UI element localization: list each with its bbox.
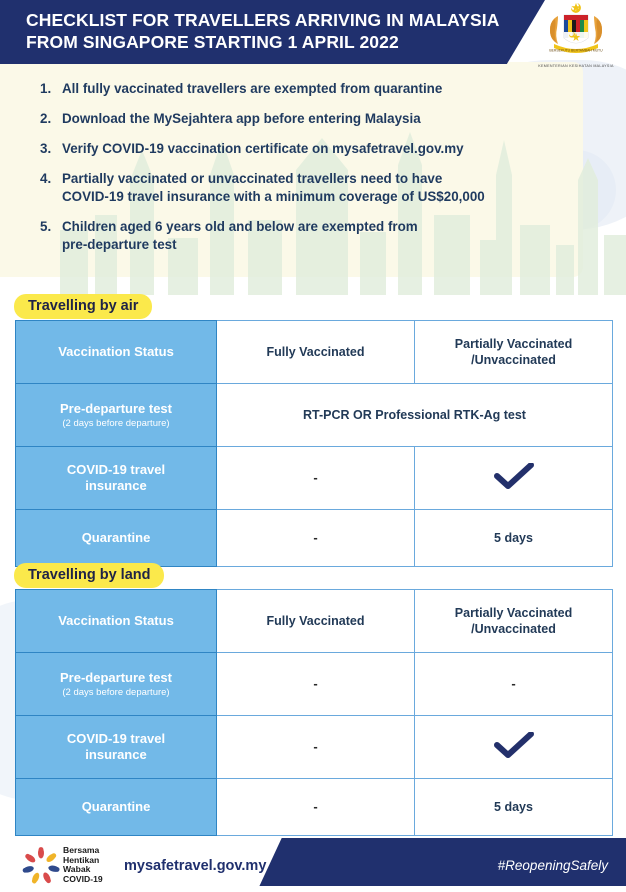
- list-item-text: Partially vaccinated or unvaccinated tra…: [62, 170, 585, 206]
- table-travelling-by-land: Vaccination Status Fully Vaccinated Part…: [15, 589, 613, 836]
- list-item-number: 5.: [40, 218, 62, 254]
- footer-logo-line-4: COVID-19: [63, 875, 103, 885]
- cell-text-line-2: /Unvaccinated: [415, 621, 612, 637]
- row-label-text: Vaccination Status: [58, 613, 174, 628]
- row-label-text: Pre-departure test: [60, 401, 172, 416]
- emblem-container: BERSEKUTU BERTAMBAH MUTU KEMENTERIAN KES…: [528, 2, 624, 70]
- cell-insurance-partial: [415, 447, 613, 510]
- footer-bottom-strip: [0, 886, 626, 892]
- row-label-text: COVID-19 travel: [67, 462, 165, 477]
- table-travelling-by-air: Vaccination Status Fully Vaccinated Part…: [15, 320, 613, 567]
- footer: Bersama Hentikan Wabak COVID-19 mysafetr…: [0, 838, 626, 892]
- cell-quarantine-fully: -: [217, 510, 415, 567]
- cell-text: -: [313, 799, 317, 814]
- cell-text: 5 days: [494, 800, 533, 814]
- emblem-caption: KEMENTERIAN KESIHATAN MALAYSIA: [519, 64, 626, 69]
- row-label-quarantine: Quarantine: [16, 510, 217, 567]
- row-label-pre-departure-test: Pre-departure test (2 days before depart…: [16, 653, 217, 716]
- table-row: Vaccination Status Fully Vaccinated Part…: [16, 590, 613, 653]
- infographic-page: CHECKLIST FOR TRAVELLERS ARRIVING IN MAL…: [0, 0, 626, 892]
- cell-text: -: [313, 739, 317, 754]
- cell-text: -: [313, 470, 317, 485]
- list-item: 1. All fully vaccinated travellers are e…: [40, 80, 585, 98]
- list-item: 5. Children aged 6 years old and below a…: [40, 218, 585, 254]
- list-item: 4. Partially vaccinated or unvaccinated …: [40, 170, 585, 206]
- list-item-line-1: Partially vaccinated or unvaccinated tra…: [62, 171, 442, 186]
- row-label-covid-travel-insurance: COVID-19 travel insurance: [16, 716, 217, 779]
- row-label-text: Quarantine: [82, 799, 151, 814]
- cell-text: RT-PCR OR Professional RTK-Ag test: [303, 408, 526, 422]
- cell-pre-departure-test-merged: RT-PCR OR Professional RTK-Ag test: [217, 384, 613, 447]
- row-label-text: Quarantine: [82, 530, 151, 545]
- cell-fully-vaccinated-header: Fully Vaccinated: [217, 590, 415, 653]
- svg-text:BERSEKUTU BERTAMBAH MUTU: BERSEKUTU BERTAMBAH MUTU: [549, 49, 603, 53]
- check-mark-icon: [493, 732, 535, 758]
- row-label-text-line-2: insurance: [16, 747, 216, 763]
- row-label-text: COVID-19 travel: [67, 731, 165, 746]
- cell-text-line-2: /Unvaccinated: [415, 352, 612, 368]
- cell-pre-departure-fully: -: [217, 653, 415, 716]
- bersama-hentikan-wabak-covid19-logo-icon: [14, 847, 68, 885]
- cell-quarantine-partial: 5 days: [415, 779, 613, 836]
- cell-insurance-fully: -: [217, 447, 415, 510]
- cell-text: -: [313, 676, 317, 691]
- row-label-quarantine: Quarantine: [16, 779, 217, 836]
- list-item-text: Verify COVID-19 vaccination certificate …: [62, 140, 585, 158]
- list-item-line-1: Verify COVID-19 vaccination certificate …: [62, 141, 464, 156]
- table-row: Vaccination Status Fully Vaccinated Part…: [16, 321, 613, 384]
- cell-insurance-fully: -: [217, 716, 415, 779]
- cell-text: Fully Vaccinated: [267, 614, 365, 628]
- row-label-text-line-2: insurance: [16, 478, 216, 494]
- list-item-line-1: Download the MySejahtera app before ente…: [62, 111, 421, 126]
- table-row: Quarantine - 5 days: [16, 779, 613, 836]
- table-row: Pre-departure test (2 days before depart…: [16, 384, 613, 447]
- list-item: 3. Verify COVID-19 vaccination certifica…: [40, 140, 585, 158]
- cell-fully-vaccinated-header: Fully Vaccinated: [217, 321, 415, 384]
- row-label-text: Vaccination Status: [58, 344, 174, 359]
- section-badge-air: Travelling by air: [14, 294, 152, 319]
- checklist: 1. All fully vaccinated travellers are e…: [40, 80, 585, 266]
- cell-partially-vaccinated-header: Partially Vaccinated /Unvaccinated: [415, 590, 613, 653]
- row-label-subtext: (2 days before departure): [16, 687, 216, 699]
- cell-partially-vaccinated-header: Partially Vaccinated /Unvaccinated: [415, 321, 613, 384]
- list-item: 2. Download the MySejahtera app before e…: [40, 110, 585, 128]
- cell-text-line-1: Partially Vaccinated: [455, 606, 572, 620]
- footer-hashtag: #ReopeningSafely: [498, 858, 608, 873]
- list-item-line-2: COVID-19 travel insurance with a minimum…: [62, 188, 585, 206]
- cell-text-line-1: Partially Vaccinated: [455, 337, 572, 351]
- list-item-text: All fully vaccinated travellers are exem…: [62, 80, 585, 98]
- list-item-number: 1.: [40, 80, 62, 98]
- cell-text: Fully Vaccinated: [267, 345, 365, 359]
- table-row: COVID-19 travel insurance -: [16, 716, 613, 779]
- cell-text: -: [511, 676, 515, 691]
- row-label-vaccination-status: Vaccination Status: [16, 590, 217, 653]
- list-item-number: 4.: [40, 170, 62, 206]
- table-row: Quarantine - 5 days: [16, 510, 613, 567]
- page-title: CHECKLIST FOR TRAVELLERS ARRIVING IN MAL…: [26, 9, 506, 53]
- cell-text: 5 days: [494, 531, 533, 545]
- list-item-number: 2.: [40, 110, 62, 128]
- row-label-text: Pre-departure test: [60, 670, 172, 685]
- list-item-text: Download the MySejahtera app before ente…: [62, 110, 585, 128]
- row-label-covid-travel-insurance: COVID-19 travel insurance: [16, 447, 217, 510]
- header: CHECKLIST FOR TRAVELLERS ARRIVING IN MAL…: [0, 0, 626, 64]
- cell-pre-departure-partial: -: [415, 653, 613, 716]
- cell-quarantine-partial: 5 days: [415, 510, 613, 567]
- row-label-subtext: (2 days before departure): [16, 418, 216, 430]
- row-label-pre-departure-test: Pre-departure test (2 days before depart…: [16, 384, 217, 447]
- cell-quarantine-fully: -: [217, 779, 415, 836]
- check-mark-icon: [493, 463, 535, 489]
- page-title-line-2: FROM SINGAPORE STARTING 1 APRIL 2022: [26, 31, 506, 53]
- page-title-line-1: CHECKLIST FOR TRAVELLERS ARRIVING IN MAL…: [26, 9, 506, 31]
- table-row: Pre-departure test (2 days before depart…: [16, 653, 613, 716]
- footer-website-url[interactable]: mysafetravel.gov.my: [124, 858, 266, 874]
- list-item-number: 3.: [40, 140, 62, 158]
- footer-logo-text: Bersama Hentikan Wabak COVID-19: [63, 846, 103, 884]
- malaysia-coat-of-arms-icon: BERSEKUTU BERTAMBAH MUTU: [528, 2, 624, 60]
- table-row: COVID-19 travel insurance -: [16, 447, 613, 510]
- list-item-text: Children aged 6 years old and below are …: [62, 218, 585, 254]
- list-item-line-1: Children aged 6 years old and below are …: [62, 219, 418, 234]
- list-item-line-1: All fully vaccinated travellers are exem…: [62, 81, 442, 96]
- list-item-line-2: pre-departure test: [62, 236, 585, 254]
- row-label-vaccination-status: Vaccination Status: [16, 321, 217, 384]
- section-badge-land: Travelling by land: [14, 563, 164, 588]
- cell-text: -: [313, 530, 317, 545]
- cell-insurance-partial: [415, 716, 613, 779]
